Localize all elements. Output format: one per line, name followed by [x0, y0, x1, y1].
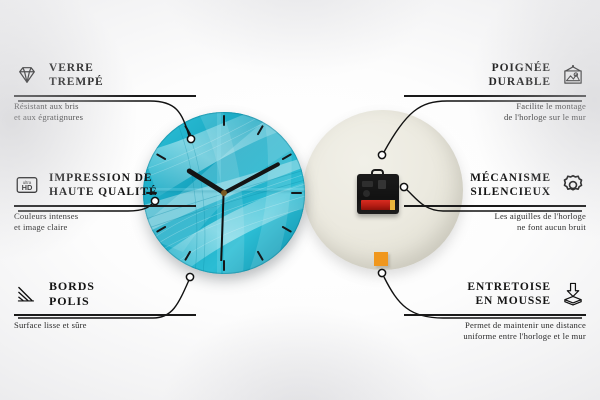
clock-tick — [224, 192, 305, 194]
feature-impression-haute-qualite: ultra HD IMPRESSION DEHAUTE QUALITÉ Coul… — [14, 168, 196, 234]
feature-header: POIGNÉEDURABLE — [404, 58, 586, 92]
battery-tip — [390, 200, 395, 210]
svg-text:HD: HD — [22, 183, 33, 192]
feature-divider — [404, 205, 586, 207]
diamond-icon — [14, 62, 40, 88]
clock-hand-cap — [221, 190, 227, 196]
feature-title: MÉCANISMESILENCIEUX — [470, 171, 551, 199]
foam-spacer — [374, 252, 388, 266]
feature-poignee-durable: POIGNÉEDURABLE Facilite le montage de l'… — [404, 58, 586, 124]
mechanism-detail — [378, 180, 386, 189]
feature-divider — [14, 314, 196, 316]
feature-description: Résistant aux bris et aux égratignures — [14, 101, 196, 125]
feature-description: Permet de maintenir une distance uniform… — [404, 320, 586, 344]
mechanism-shaft — [363, 190, 370, 197]
infographic-canvas: VERRETREMPÉ Résistant aux bris et aux ég… — [0, 0, 600, 400]
feature-title: IMPRESSION DEHAUTE QUALITÉ — [49, 171, 158, 199]
feature-description: Les aiguilles de l'horloge ne font aucun… — [404, 211, 586, 235]
polished-edges-icon — [14, 281, 40, 307]
feature-description: Couleurs intenses et image claire — [14, 211, 196, 235]
feature-description: Facilite le montage de l'horloge sur le … — [404, 101, 586, 125]
feature-divider — [404, 95, 586, 97]
feature-header: MÉCANISMESILENCIEUX — [404, 168, 586, 202]
feature-header: ultra HD IMPRESSION DEHAUTE QUALITÉ — [14, 168, 196, 202]
feature-entretoise-en-mousse: ENTRETOISEEN MOUSSE Permet de maintenir … — [404, 277, 586, 343]
feature-verre-trempe: VERRETREMPÉ Résistant aux bris et aux ég… — [14, 58, 196, 124]
mechanism-hanger-tab — [371, 169, 384, 176]
ultra-hd-icon: ultra HD — [14, 172, 40, 198]
clock-tick — [223, 112, 225, 193]
feature-header: BORDSPOLIS — [14, 277, 196, 311]
foam-spacer-icon — [560, 281, 586, 307]
gear-icon — [560, 172, 586, 198]
feature-divider — [404, 314, 586, 316]
feature-description: Surface lisse et sûre — [14, 320, 196, 332]
feature-title: POIGNÉEDURABLE — [488, 61, 551, 89]
clock-mechanism — [357, 174, 399, 214]
feature-header: ENTRETOISEEN MOUSSE — [404, 277, 586, 311]
battery — [361, 200, 395, 210]
feature-header: VERRETREMPÉ — [14, 58, 196, 92]
feature-title: BORDSPOLIS — [49, 279, 95, 308]
hanging-frame-icon — [560, 62, 586, 88]
mechanism-detail — [362, 181, 373, 187]
feature-divider — [14, 205, 196, 207]
feature-mecanisme-silencieux: MÉCANISMESILENCIEUX Les aiguilles de l'h… — [404, 168, 586, 234]
feature-bords-polis: BORDSPOLIS Surface lisse et sûre — [14, 277, 196, 331]
feature-divider — [14, 95, 196, 97]
feature-title: VERRETREMPÉ — [49, 61, 104, 89]
feature-title: ENTRETOISEEN MOUSSE — [467, 280, 551, 308]
